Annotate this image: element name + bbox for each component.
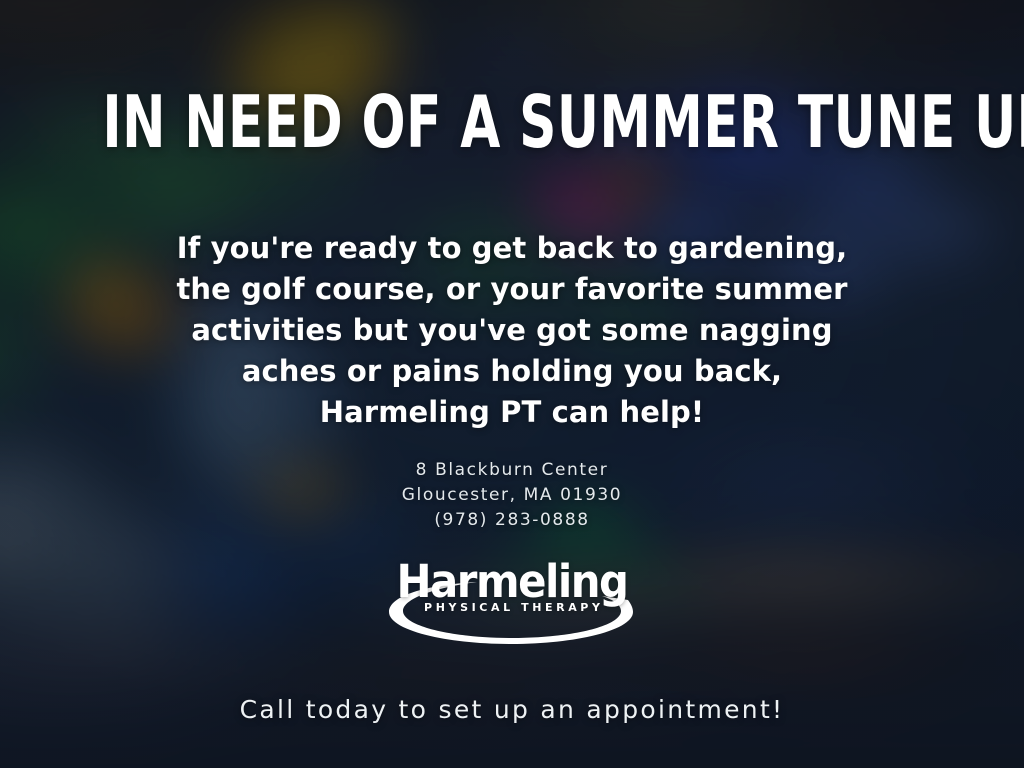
street-address: 8 Blackburn Center [0,458,1024,483]
contact-block: 8 Blackburn Center Gloucester, MA 01930 … [0,458,1024,533]
body-line: Harmeling PT can help! [0,392,1024,433]
body-copy: If you're ready to get back to gardening… [0,228,1024,433]
body-line: If you're ready to get back to gardening… [0,228,1024,269]
marketing-poster: IN NEED OF A SUMMER TUNE UP? If you're r… [0,0,1024,768]
harmeling-logo[interactable]: Harmeling PHYSICAL THERAPY [381,556,643,652]
logo-tagline: PHYSICAL THERAPY [381,601,643,614]
headline: IN NEED OF A SUMMER TUNE UP? [102,86,921,158]
body-line: aches or pains holding you back, [0,351,1024,392]
body-line: activities but you've got some nagging [0,310,1024,351]
call-to-action: Call today to set up an appointment! [0,694,1024,726]
city-state-zip: Gloucester, MA 01930 [0,483,1024,508]
phone-number[interactable]: (978) 283-0888 [0,508,1024,533]
logo-wordmark: Harmeling [390,557,634,607]
body-line: the golf course, or your favorite summer [0,269,1024,310]
poster-content: IN NEED OF A SUMMER TUNE UP? If you're r… [0,0,1024,768]
